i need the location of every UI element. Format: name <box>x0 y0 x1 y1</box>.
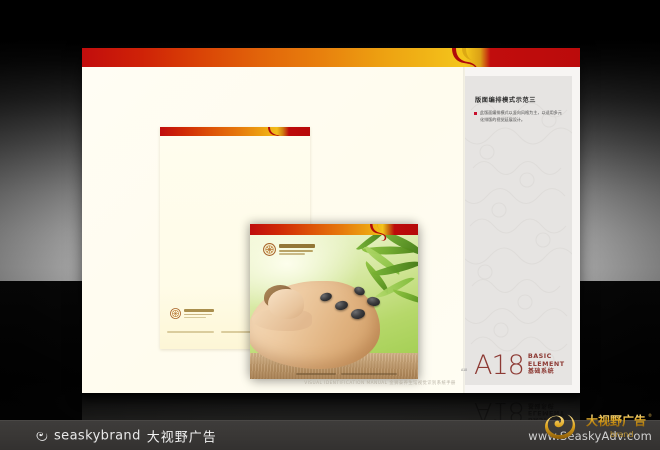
visual-identity-caption: VISUAL IDENTIFICATION MANUAL 金狮泰养生馆视觉识别系… <box>290 380 470 386</box>
spread-right-page: 版面编排模式示范三 此版面编排模式以竖向风格为主，以适用多元化排版的视觉延展设计… <box>465 67 580 393</box>
brochure-logo-cn-line <box>279 244 315 248</box>
a18-line2: ELEMENT <box>528 361 565 368</box>
reflection-a18-line2: ELEMENT <box>528 409 565 416</box>
spa-brochure-cover[interactable] <box>250 224 418 379</box>
a18-line-cn: 基础系统 <box>528 368 565 375</box>
reflection-a18-number: A18 <box>474 399 524 421</box>
a18-section-logo: A18 BASIC ELEMENT 基础系统 <box>474 353 565 377</box>
footer-brand[interactable]: seaskybrand 大视野广告 <box>35 426 217 445</box>
a18-number: A18 <box>474 355 524 377</box>
reflection-a18-line-cn: 基础系统 <box>528 401 565 408</box>
jinshitai-seal-logo-icon <box>170 308 181 319</box>
letterhead-logo-en-line <box>184 314 212 316</box>
design-spread[interactable]: VISUAL IDENTIFICATION MANUAL 金狮泰养生馆视觉识别系… <box>82 48 580 393</box>
presentation-stage: VISUAL IDENTIFICATION MANUAL 金狮泰养生馆视觉识别系… <box>0 0 660 450</box>
brochure-logo-sub-line <box>279 253 305 255</box>
spec-panel-note: 此版面编排模式以竖向风格为主，以适用多元化排版的视觉延展设计。 <box>480 110 564 124</box>
footer-brand-name: seaskybrand <box>54 428 141 443</box>
brochure-footer-line <box>296 372 412 375</box>
letterhead-logo <box>170 308 214 319</box>
jinshitai-seal-logo-icon <box>263 243 276 256</box>
spec-panel[interactable]: 版面编排模式示范三 此版面编排模式以竖向风格为主，以适用多元化排版的视觉延展设计… <box>465 76 572 385</box>
brochure-logo <box>263 243 315 256</box>
seasky-swirl-icon <box>35 429 48 442</box>
model-head <box>268 289 304 319</box>
spread-left-page: VISUAL IDENTIFICATION MANUAL 金狮泰养生馆视觉识别系… <box>82 67 465 393</box>
brochure-artwork <box>250 235 418 379</box>
footer-url-group[interactable]: www.SeaskyAdv.com <box>528 429 652 443</box>
ribbon-curl-icon <box>370 224 394 242</box>
footer-site-url[interactable]: www.SeaskyAdv.com <box>528 429 652 443</box>
spec-panel-title: 版面编排模式示范三 <box>475 97 564 104</box>
letterhead-logo-cn-line <box>184 309 214 312</box>
red-square-bullet-icon <box>474 112 477 115</box>
brochure-logo-en-line <box>279 250 313 252</box>
footer-bar: seaskybrand 大视野广告 www.SeaskyAdv.com 大视野广… <box>0 420 660 450</box>
spec-panel-side-tick: A18 <box>461 368 467 371</box>
footer-brand-name-cn: 大视野广告 <box>147 426 217 445</box>
letterhead-logo-sub-line <box>184 317 206 318</box>
spread-header-gradient-bar <box>82 48 580 67</box>
